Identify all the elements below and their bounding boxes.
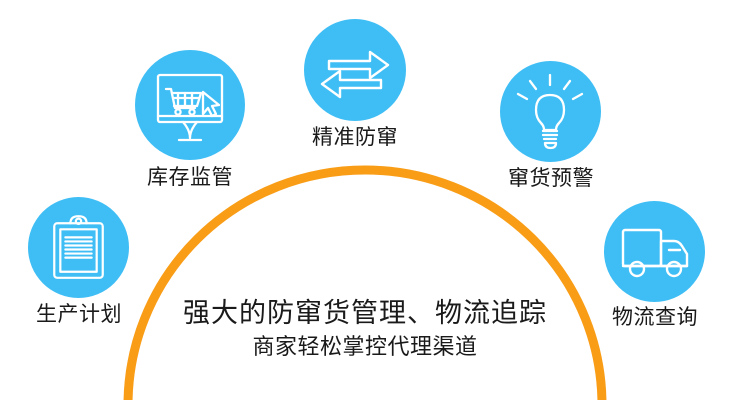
clipboard-icon [28,197,129,298]
node-label-precise-anti-diversion: 精准防窜 [297,124,413,150]
bubble-production-plan[interactable] [28,197,129,298]
node-label-diversion-alert: 窜货预警 [493,165,609,191]
headline-block: 强大的防窜货管理、物流追踪 商家轻松掌控代理渠道 [0,296,730,364]
two-way-arrows-icon [304,19,406,121]
node-label-inventory-supervision: 库存监管 [135,164,245,190]
headline-line-2: 商家轻松掌控代理渠道 [0,332,730,364]
bubble-precise-anti-diversion[interactable] [304,19,406,121]
infographic-canvas: 生产计划 [0,0,730,400]
delivery-truck-icon [604,201,705,302]
headline-line-1: 强大的防窜货管理、物流追踪 [0,296,730,332]
lightbulb-icon [500,61,601,162]
bubble-logistics-query[interactable] [604,201,705,302]
bubble-inventory-supervision[interactable] [135,50,245,160]
arc-ellipse [128,170,602,400]
monitor-cart-cursor-icon [135,50,245,160]
bubble-diversion-alert[interactable] [500,61,601,162]
